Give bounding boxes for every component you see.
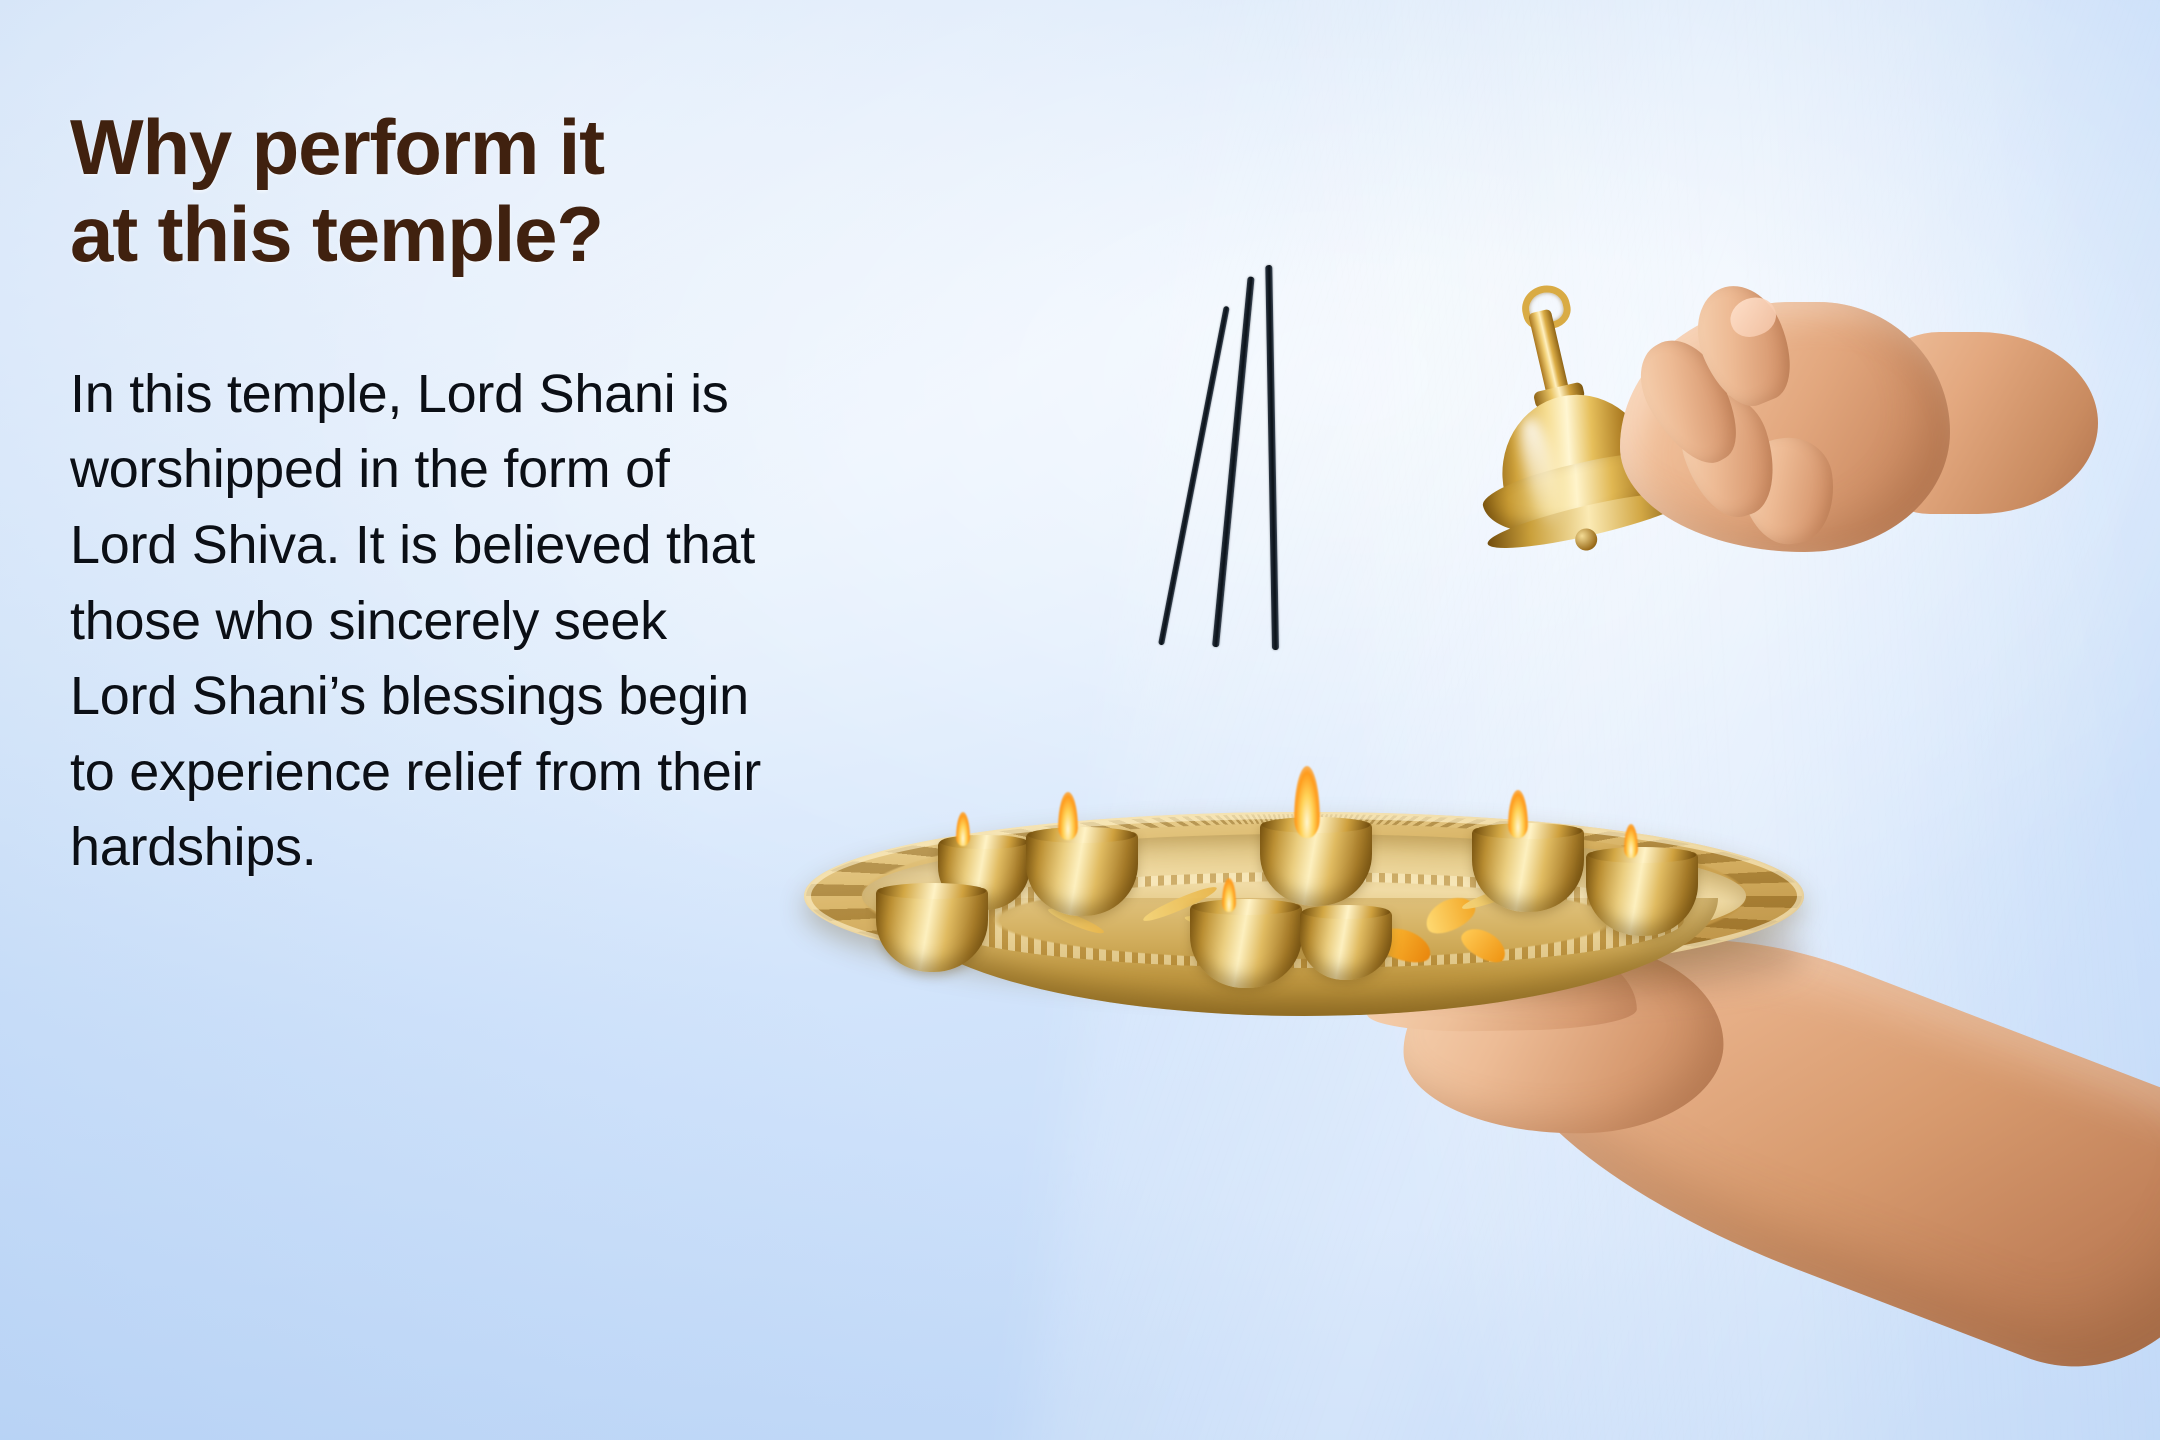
puja-photo xyxy=(760,0,2160,1440)
hand-ringing-bell xyxy=(1590,262,2060,622)
diya-flame xyxy=(1058,792,1078,840)
headline-line-2: at this temple? xyxy=(70,191,830,278)
diya-flame xyxy=(1294,766,1320,838)
page-title: Why perform it at this temple? xyxy=(70,104,830,279)
headline-line-1: Why perform it xyxy=(70,104,830,191)
body-paragraph: In this temple, Lord Shani is worshipped… xyxy=(70,279,770,886)
incense-stick-right xyxy=(1265,265,1279,650)
text-column: Why perform it at this temple? In this t… xyxy=(70,104,830,886)
slide-canvas: Why perform it at this temple? In this t… xyxy=(0,0,2160,1440)
diya-flame xyxy=(1508,790,1528,838)
